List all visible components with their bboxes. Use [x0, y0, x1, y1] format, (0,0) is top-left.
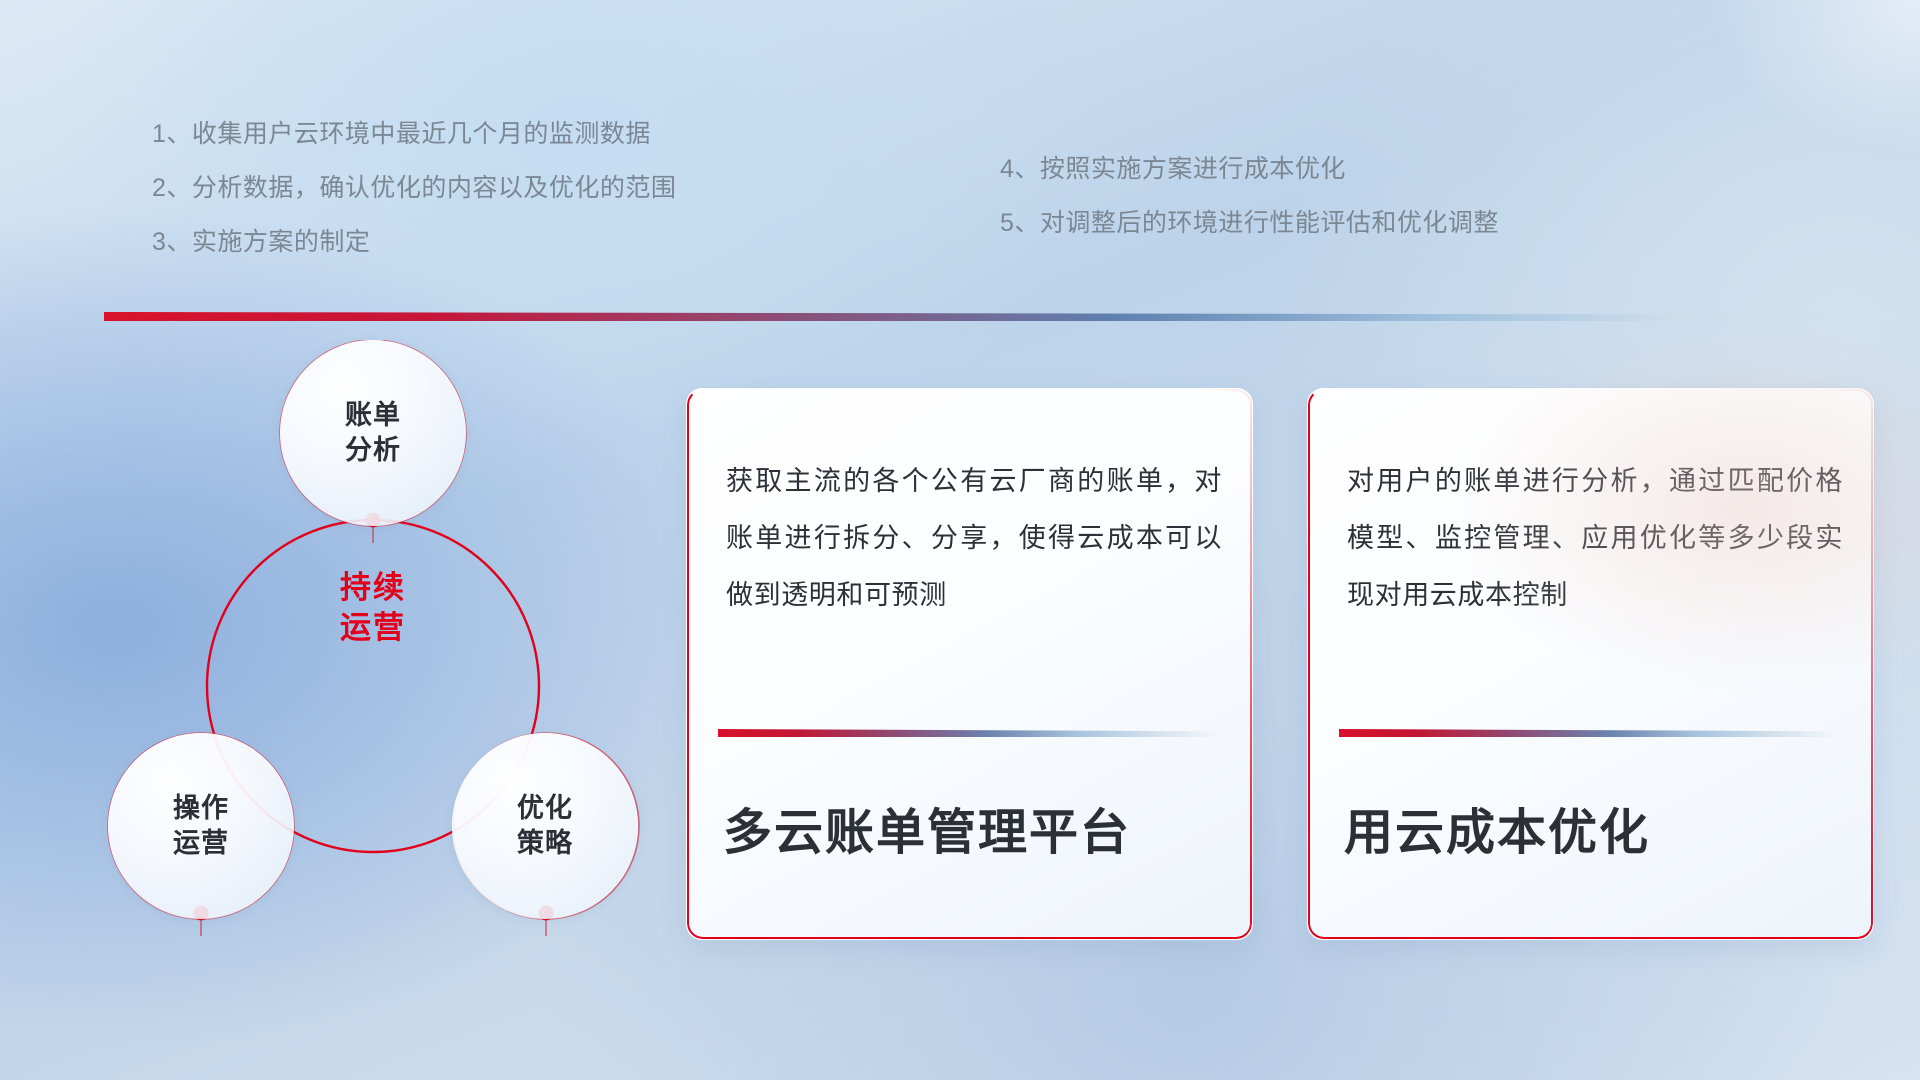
bubble-label-line1: 优化	[517, 791, 573, 826]
diagram-center-label: 持续 运营	[285, 568, 461, 649]
center-label-line1: 持续	[285, 568, 461, 608]
process-step-2: 2、分析数据，确认优化的内容以及优化的范围	[152, 176, 676, 201]
card-cloud-cost-optimization[interactable]: 对用户的账单进行分析，通过匹配价格模型、监控管理、应用优化等多少段实现对用云成本…	[1307, 388, 1874, 940]
process-step-4: 4、按照实施方案进行成本优化	[1000, 157, 1499, 182]
process-steps-right-column: 4、按照实施方案进行成本优化 5、对调整后的环境进行性能评估和优化调整	[1000, 157, 1499, 236]
center-label-line2: 运营	[285, 608, 461, 648]
bubble-label-line1: 账单	[345, 398, 401, 433]
card-multi-cloud-billing-platform[interactable]: 获取主流的各个公有云厂商的账单，对账单进行拆分、分享，使得云成本可以做到透明和可…	[686, 388, 1253, 940]
process-step-5: 5、对调整后的环境进行性能评估和优化调整	[1000, 211, 1499, 236]
card-description: 获取主流的各个公有云厂商的账单，对账单进行拆分、分享，使得云成本可以做到透明和可…	[726, 453, 1222, 625]
slide-canvas: 1、收集用户云环境中最近几个月的监测数据 2、分析数据，确认优化的内容以及优化的…	[0, 0, 1920, 1080]
card-accent-rule	[718, 729, 1218, 737]
continuous-operations-diagram: 账单 分析 操作 运营 优化 策略 持续 运营	[100, 340, 640, 960]
process-step-1: 1、收集用户云环境中最近几个月的监测数据	[152, 122, 676, 147]
section-divider	[104, 312, 1899, 321]
bubble-optimization-policy[interactable]: 优化 策略	[452, 733, 638, 919]
process-steps-left-column: 1、收集用户云环境中最近几个月的监测数据 2、分析数据，确认优化的内容以及优化的…	[152, 122, 676, 255]
bubble-operations[interactable]: 操作 运营	[108, 733, 294, 919]
card-title: 多云账单管理平台	[723, 793, 1131, 864]
bubble-label-line2: 分析	[345, 433, 401, 468]
bubble-label-line2: 运营	[173, 826, 229, 861]
bubble-label-line2: 策略	[517, 826, 573, 861]
card-accent-rule	[1339, 729, 1839, 737]
process-step-3: 3、实施方案的制定	[152, 230, 676, 255]
bubble-bill-analysis[interactable]: 账单 分析	[280, 340, 466, 526]
card-title: 用云成本优化	[1344, 793, 1650, 864]
card-description: 对用户的账单进行分析，通过匹配价格模型、监控管理、应用优化等多少段实现对用云成本…	[1347, 453, 1843, 625]
bubble-label-line1: 操作	[173, 791, 229, 826]
